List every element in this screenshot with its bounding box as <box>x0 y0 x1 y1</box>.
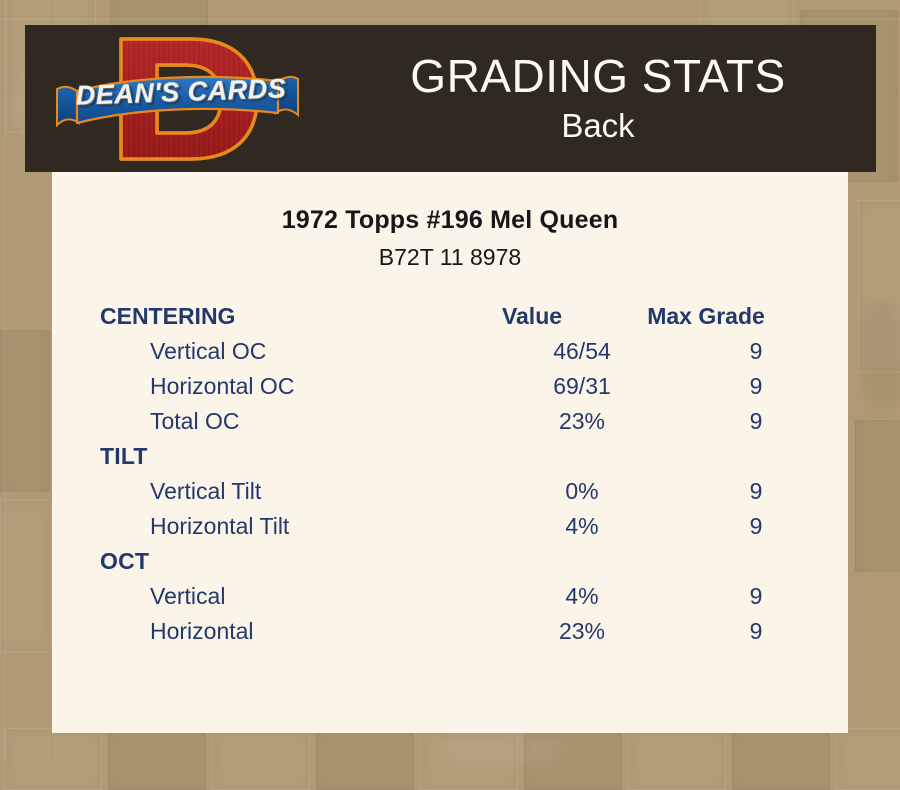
row-max-grade: 9 <box>666 373 846 400</box>
section-header-tilt: TILT <box>100 443 448 470</box>
background-smudge <box>440 735 560 765</box>
stats-panel: 1972 Topps #196 Mel Queen B72T 11 8978 C… <box>52 172 848 733</box>
grading-stats-table: CENTERING Value Max Grade Vertical OC 46… <box>52 303 848 653</box>
section-header-row: TILT <box>100 443 796 478</box>
table-row: Vertical 4% 9 <box>100 583 796 618</box>
card-identifier: B72T 11 8978 <box>52 244 848 271</box>
row-value: 4% <box>498 583 666 610</box>
header-title-block: GRADING STATS Back <box>320 25 876 172</box>
row-max-grade: 9 <box>666 513 846 540</box>
background-card-decoration <box>0 330 50 492</box>
table-row: Total OC 23% 9 <box>100 408 796 443</box>
row-value: 0% <box>498 478 666 505</box>
row-max-grade: 9 <box>666 618 846 645</box>
background-card-decoration <box>108 728 206 790</box>
background-smudge <box>862 300 900 410</box>
row-label: Vertical Tilt <box>100 478 498 505</box>
background-card-decoration <box>316 728 414 790</box>
section-header-row: OCT <box>100 548 796 583</box>
row-label: Horizontal <box>100 618 498 645</box>
row-max-grade: 9 <box>666 338 846 365</box>
section-header-centering: CENTERING <box>100 303 448 330</box>
table-header-row: CENTERING Value Max Grade <box>100 303 796 338</box>
row-label: Horizontal OC <box>100 373 498 400</box>
card-title: 1972 Topps #196 Mel Queen <box>52 206 848 235</box>
background-card-decoration <box>4 728 102 790</box>
table-row: Horizontal 23% 9 <box>100 618 796 653</box>
row-value: 4% <box>498 513 666 540</box>
row-max-grade: 9 <box>666 478 846 505</box>
section-header-oct: OCT <box>100 548 448 575</box>
row-label: Vertical <box>100 583 498 610</box>
background-card-decoration <box>628 728 726 790</box>
row-label: Vertical OC <box>100 338 498 365</box>
table-row: Horizontal OC 69/31 9 <box>100 373 796 408</box>
header-bar: DEAN'S CARDS GRADING STATS Back <box>25 25 876 172</box>
background-card-decoration <box>0 500 52 652</box>
column-header-max-grade: Max Grade <box>616 303 796 330</box>
row-value: 46/54 <box>498 338 666 365</box>
row-max-grade: 9 <box>666 583 846 610</box>
deans-cards-logo[interactable]: DEAN'S CARDS <box>55 27 300 170</box>
row-value: 23% <box>498 408 666 435</box>
row-label: Total OC <box>100 408 498 435</box>
background-card-decoration <box>836 728 900 790</box>
page-subtitle: Back <box>561 106 634 146</box>
table-row: Horizontal Tilt 4% 9 <box>100 513 796 548</box>
background-card-decoration <box>212 728 310 790</box>
background-card-decoration <box>732 728 830 790</box>
row-value: 69/31 <box>498 373 666 400</box>
column-header-value: Value <box>448 303 616 330</box>
table-row: Vertical Tilt 0% 9 <box>100 478 796 513</box>
page-title: GRADING STATS <box>410 52 785 100</box>
row-value: 23% <box>498 618 666 645</box>
row-label: Horizontal Tilt <box>100 513 498 540</box>
table-row: Vertical OC 46/54 9 <box>100 338 796 373</box>
row-max-grade: 9 <box>666 408 846 435</box>
background-card-decoration <box>855 420 900 572</box>
